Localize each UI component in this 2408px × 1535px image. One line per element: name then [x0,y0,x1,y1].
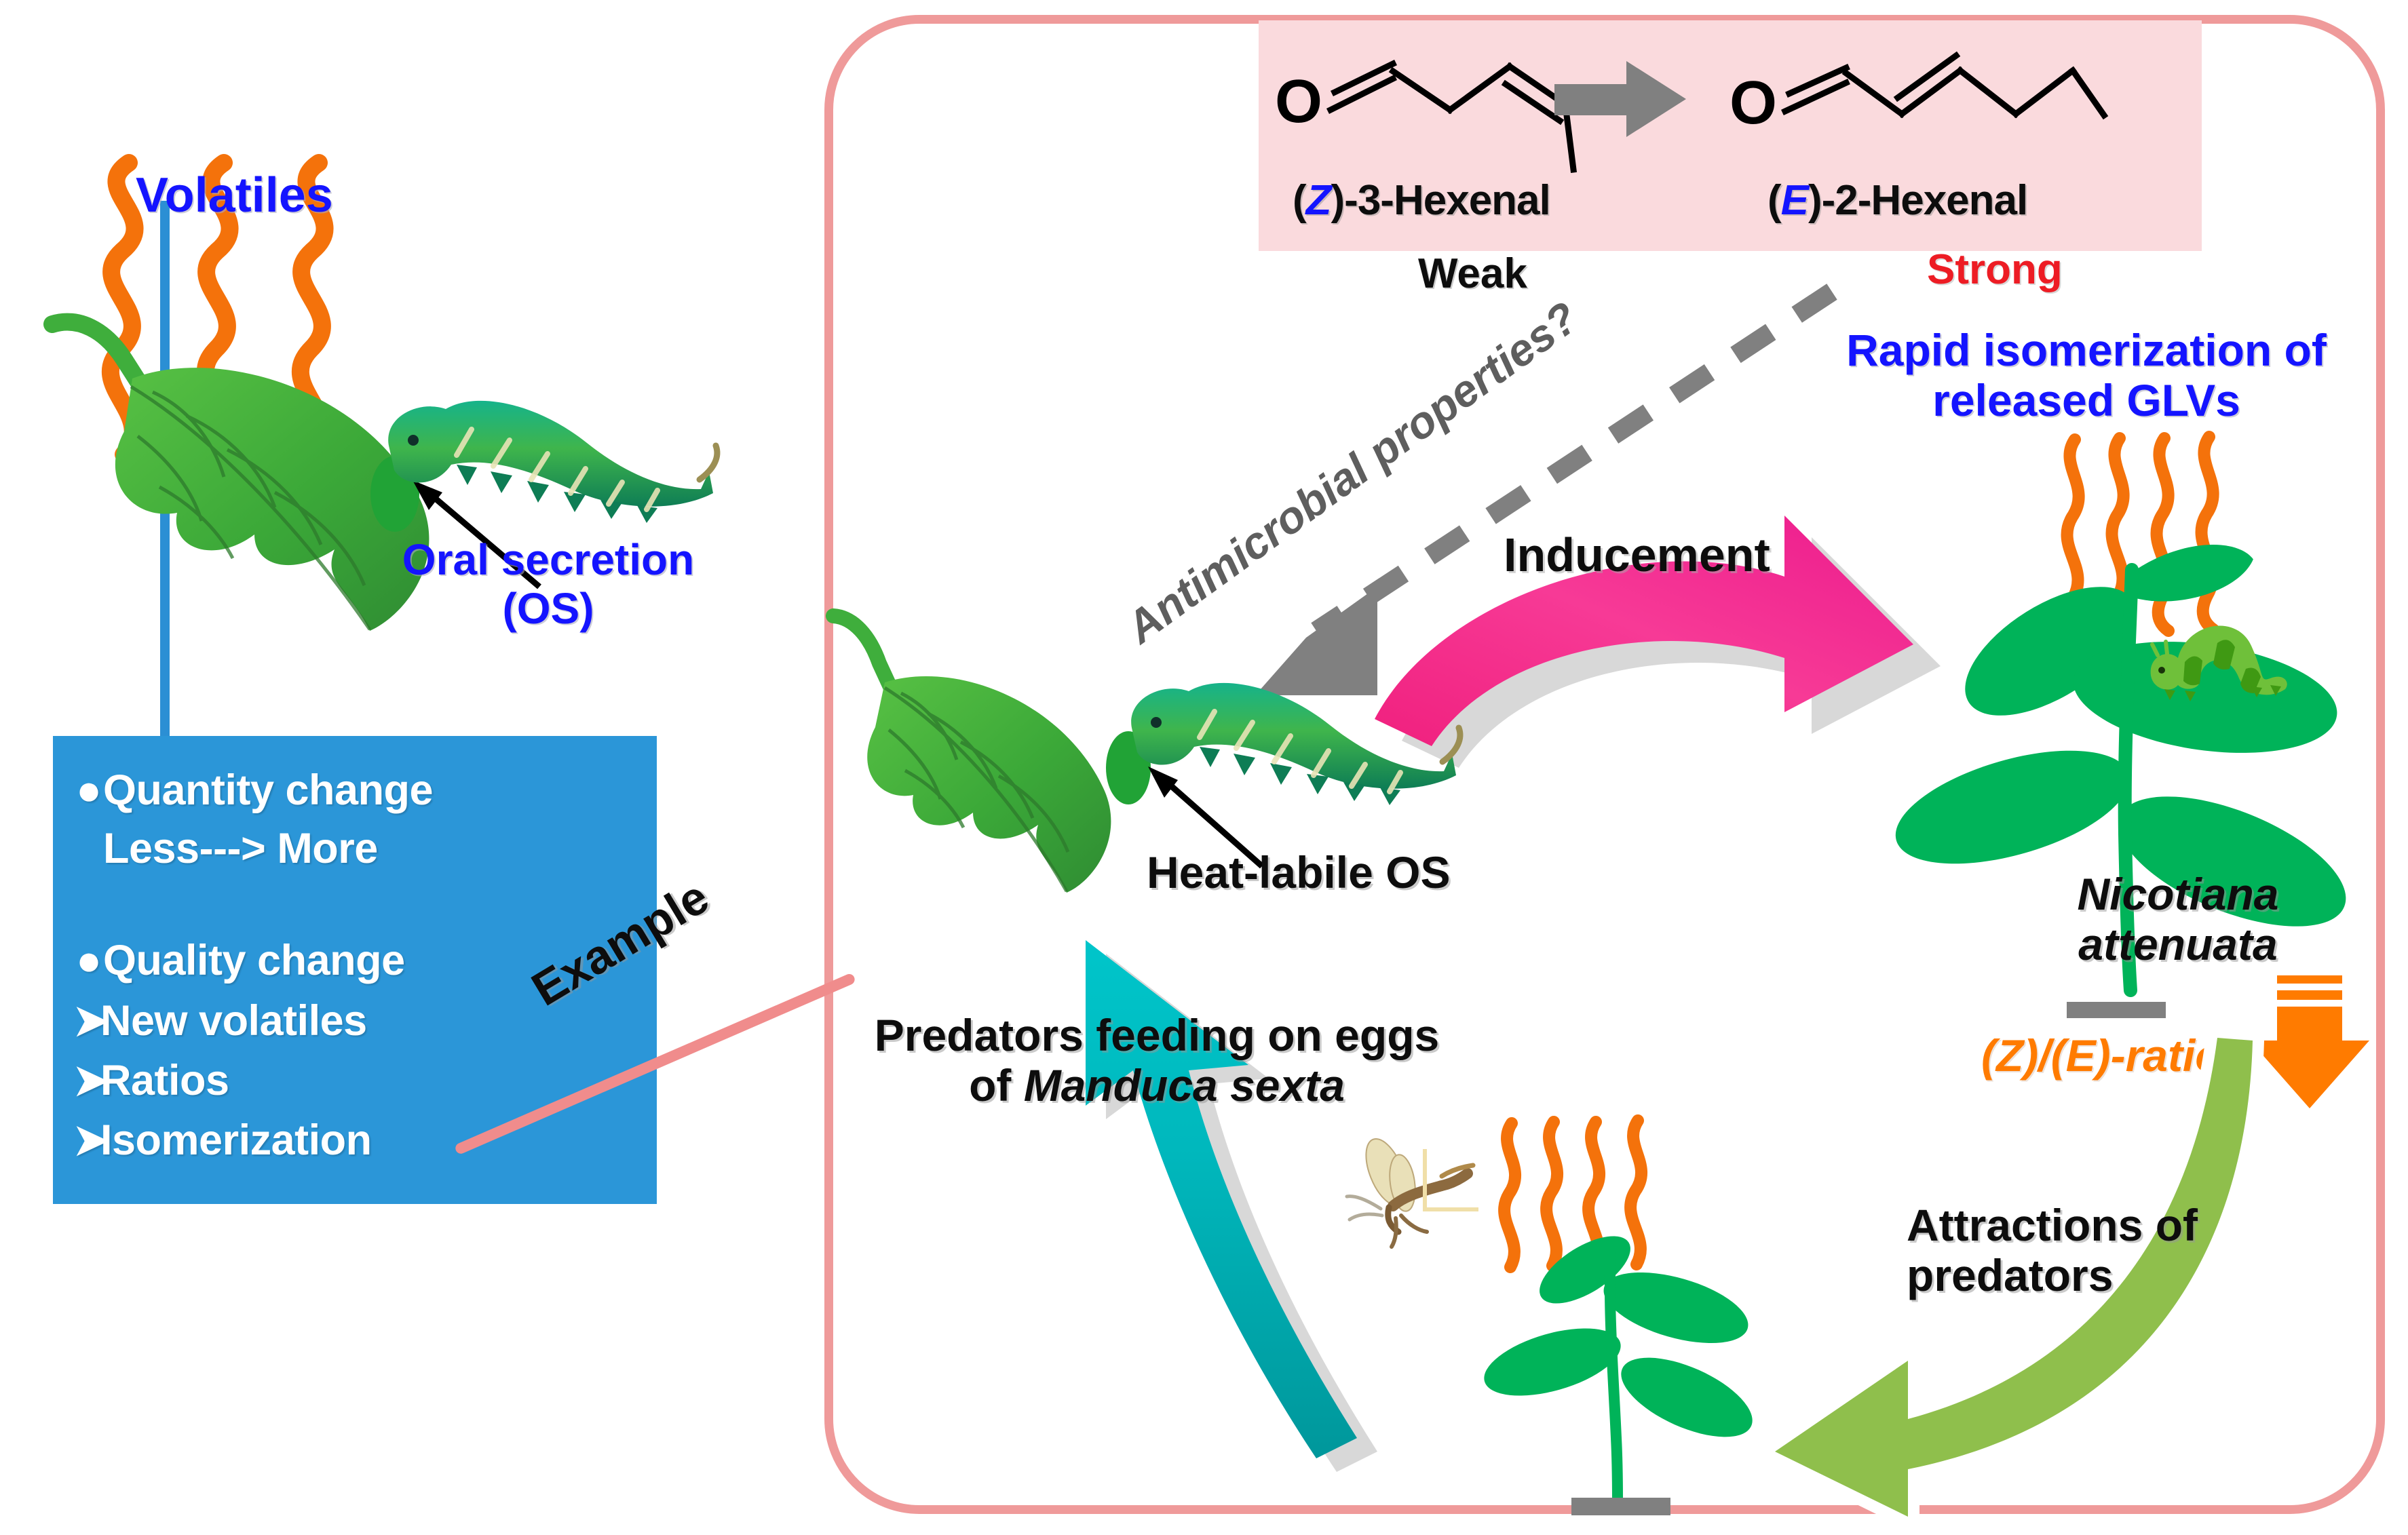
plant-base-bar-bottom [1571,1498,1670,1515]
info-item-0-marker: ● [76,766,103,815]
info-item-4-marker: ➤ [73,1055,100,1105]
z-hexenal-suffix: )-3-Hexenal [1331,177,1550,224]
e-2-hexenal-structure: O [1727,35,2107,157]
info-item-1: Less---> More [103,824,378,873]
predators-line1: Predators feeding on eggs [818,1011,1496,1061]
z-3-hexenal-label: (Z)-3-Hexenal [1293,176,1550,225]
attractions-line2: predators [1907,1251,2198,1301]
predators-line2-prefix: of [969,1060,1024,1110]
info-item-3: ➤New volatiles [73,996,367,1045]
predators-line2: of Manduca sexta [818,1061,1496,1111]
e-hexenal-paren-open: ( [1767,177,1781,224]
manduca-sexta-species: Manduca sexta [1024,1060,1345,1110]
predator-fly-icon [1347,1145,1503,1281]
predators-feeding-label: Predators feeding on eggs of Manduca sex… [818,1011,1496,1111]
heat-labile-os-label: Heat-labile OS [1147,848,1450,898]
e-hexenal-potency-strong: Strong [1927,246,2063,294]
e-hexenal-suffix: )-2-Hexenal [1808,177,2027,224]
attractions-line1: Attractions of [1907,1201,2198,1251]
attractions-of-predators-label: Attractions of predators [1907,1201,2198,1301]
info-item-2-marker: ● [76,936,103,985]
info-item-0: ●Quantity change [76,766,433,815]
svg-text:O: O [1275,68,1322,136]
info-item-3-text: New volatiles [100,997,367,1045]
svg-text:O: O [1729,69,1777,137]
oral-secretion-label-line1: Oral secretion [372,536,725,585]
info-item-2-text: Quality change [103,937,405,984]
nicotiana-line2: attenuata [2042,920,2314,970]
info-item-5-text: Isomerization [100,1116,372,1164]
rapid-isomerization-line1: Rapid isomerization of [1805,326,2368,376]
rapid-isomerization-label: Rapid isomerization of released GLVs [1805,326,2368,426]
plant-base-bar-top [2067,1002,2166,1018]
z-hexenal-paren-open: ( [1293,177,1306,224]
rapid-isomerization-line2: released GLVs [1805,376,2368,426]
info-item-4-text: Ratios [100,1057,229,1104]
nicotiana-attenuata-label: Nicotiana attenuata [2042,870,2314,970]
oral-secretion-label-line2: (OS) [372,585,725,634]
info-item-2: ●Quality change [76,936,405,985]
oral-secretion-label: Oral secretion (OS) [372,536,725,633]
chemical-reaction-panel: O O (Z)-3-Hexenal (E) [1259,20,2202,251]
info-item-0-text: Quantity change [103,766,433,814]
reaction-right-arrow-icon [1550,56,1693,144]
volatiles-label: Volatiles [136,168,333,223]
predators-feeding-arrow [882,902,1357,1472]
caterpillar-center-icon [1113,655,1466,824]
info-item-1-text: Less---> More [103,825,378,872]
info-item-5: ➤Isomerization [73,1115,372,1165]
info-item-3-marker: ➤ [73,996,100,1045]
z-hexenal-stereo: Z [1306,177,1331,224]
e-hexenal-stereo: E [1781,177,1808,224]
caterpillar-manduca-icon [370,370,723,546]
info-item-5-marker: ➤ [73,1115,100,1165]
inducement-label: Inducement [1504,528,1770,582]
e-2-hexenal-label: (E)-2-Hexenal [1767,176,2027,225]
nicotiana-line1: Nicotiana [2042,870,2314,920]
info-item-4: ➤Ratios [73,1055,229,1105]
